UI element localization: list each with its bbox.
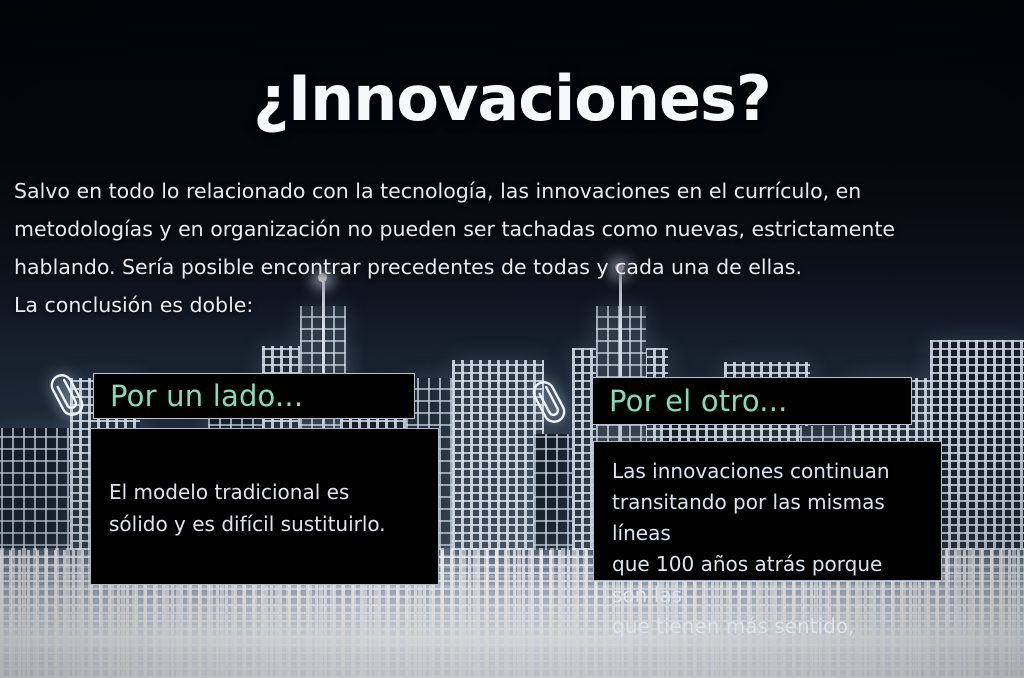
- card-heading-box-right: Por el otro...: [592, 377, 912, 425]
- paperclip-icon: [44, 370, 90, 420]
- card-heading-text: Por un lado...: [94, 379, 303, 413]
- slide-title: ¿Innovaciones?: [0, 62, 1024, 135]
- card-body-line: que tienen más sentido,: [612, 614, 854, 638]
- card-body-box-right: Las innovaciones continuan transitando p…: [593, 441, 942, 581]
- slide-paragraph: Salvo en todo lo relacionado con la tecn…: [14, 172, 974, 324]
- presentation-slide: ¿Innovaciones? Salvo en todo lo relacion…: [0, 0, 1024, 678]
- card-heading-box-left: Por un lado...: [93, 373, 415, 419]
- paragraph-line: metodologías y en organización no pueden…: [14, 210, 974, 248]
- card-heading-text: Por el otro...: [593, 384, 788, 418]
- card-body-line: sólido y es difícil sustituirlo.: [109, 512, 386, 536]
- paragraph-line: hablando. Sería posible encontrar preced…: [14, 248, 974, 286]
- paperclip-icon: [526, 377, 572, 427]
- card-body-text: El modelo tradicional es sólido y es dif…: [109, 476, 386, 540]
- card-body-text: Las innovaciones continuan transitando p…: [612, 456, 923, 642]
- card-body-line: transitando por las mismas líneas: [612, 490, 885, 545]
- card-body-line: que 100 años atrás porque son las: [612, 552, 882, 607]
- card-body-box-left: El modelo tradicional es sólido y es dif…: [90, 428, 439, 585]
- paragraph-line: Salvo en todo lo relacionado con la tecn…: [14, 172, 974, 210]
- card-body-line: Las innovaciones continuan: [612, 459, 890, 483]
- paragraph-line: La conclusión es doble:: [14, 286, 974, 324]
- card-body-line: El modelo tradicional es: [109, 480, 349, 504]
